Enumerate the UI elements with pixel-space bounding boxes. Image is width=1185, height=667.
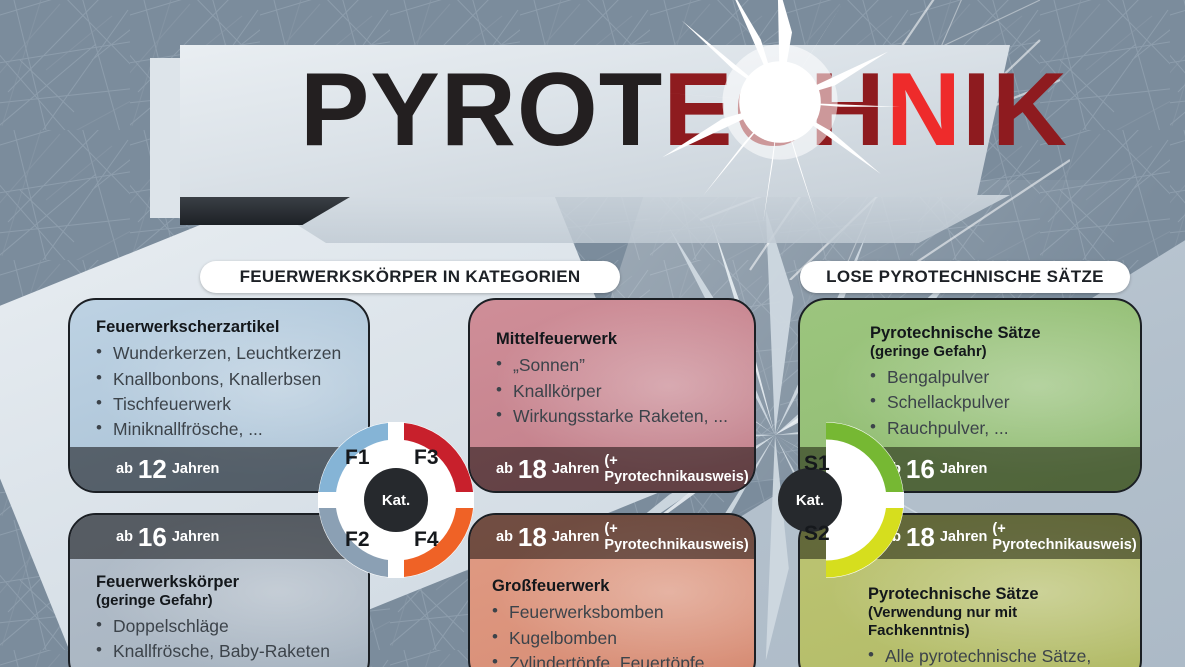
card-heading-text: Großfeuerwerk [492,577,609,595]
list-item: Miniknallfrösche, ... [96,417,348,442]
age-suffix: Jahren [940,461,988,477]
card-f3[interactable]: Mittelfeuerwerk „Sonnen” Knallkörper Wir… [468,298,756,493]
kat-wheel-hub-label: Kat. [382,492,410,509]
age-prefix: ab [116,529,133,545]
card-body: Großfeuerwerk Feuerwerksbomben Kugelbomb… [470,567,754,667]
list-item: Kugelbomben [492,626,734,651]
card-heading-text: Mittelfeuerwerk [496,330,617,348]
page-title: PYROTECHNIK [300,58,1068,162]
kat-label-f4: F4 [414,528,439,552]
card-heading: Pyrotechnische Sätze (Verwendung nur mit… [868,585,1120,640]
card-f4[interactable]: ab 18 Jahren (+ Pyrotechnikausweis) Groß… [468,513,756,667]
list-item: Wirkungsstarke Raketen, ... [496,404,734,429]
card-body: Mittelfeuerwerk „Sonnen” Knallkörper Wir… [470,312,754,437]
age-suffix: Jahren [552,529,600,545]
satz-label-s1: S1 [804,452,830,476]
card-item-list: Feuerwerksbomben Kugelbomben Zylindertöp… [492,600,734,667]
banner-tail [250,195,1010,243]
age-note: (+ Pyrotechnikausweis) [604,521,754,553]
age-prefix: ab [116,461,133,477]
age-note: (+ Pyrotechnikausweis) [604,453,754,485]
kat-wheel-hub: Kat. [364,468,428,532]
card-heading: Feuerwerkscherzartikel [96,318,348,337]
age-number: 18 [518,454,547,485]
age-suffix: Jahren [172,529,220,545]
kat-label-f1: F1 [345,446,370,470]
card-heading: Pyrotechnische Sätze (geringe Gefahr) [870,324,1120,361]
list-item: Rauchpulver, ... [870,416,1120,441]
list-item: Knallbonbons, Knallerbsen [96,367,348,392]
card-heading-text: Feuerwerkskörper [96,573,239,591]
title-part-bright: N [886,58,962,162]
list-item: Doppelschläge [96,614,348,639]
age-number: 18 [906,522,935,553]
card-subheading-text: (Verwendung nur mit Fachkenntnis) [868,604,1120,639]
title-part-dark: PYROT [300,58,663,162]
list-item: Schellackpulver [870,390,1120,415]
card-item-list: Doppelschläge Knallfrösche, Baby-Raketen… [96,614,348,667]
card-subheading-text: (geringe Gefahr) [96,592,348,610]
card-heading-text: Feuerwerkscherzartikel [96,318,279,336]
card-heading-text: Pyrotechnische Sätze [868,585,1039,603]
satz-label-s2: S2 [804,522,830,546]
list-item: Zylindertöpfe, Feuertöpfe [492,651,734,667]
card-item-list: Alle pyrotechnische Sätze, die nicht in … [868,644,1120,667]
card-heading: Mittelfeuerwerk [496,330,734,349]
list-item: Bengalpulver [870,365,1120,390]
section-header-label: LOSE PYROTECHNISCHE SÄTZE [826,267,1104,287]
kat-wheel[interactable]: Kat. F1 F3 F2 F4 [318,422,474,578]
card-heading-text: Pyrotechnische Sätze [870,324,1041,342]
list-item: Tischfeuerwerk [96,392,348,417]
list-item: Alle pyrotechnische Sätze, [868,644,1120,667]
card-item-list: Wunderkerzen, Leuchtkerzen Knallbonbons,… [96,341,348,442]
kat-label-f2: F2 [345,528,370,552]
section-header-label: FEUERWERKSKÖRPER IN KATEGORIEN [240,267,581,287]
card-item-list: Bengalpulver Schellackpulver Rauchpulver… [870,365,1120,441]
age-badge: ab 18 Jahren (+ Pyrotechnikausweis) [470,447,754,491]
list-item: Knallkörper [496,379,734,404]
card-heading: Feuerwerkskörper (geringe Gefahr) [96,573,348,610]
kat-label-f3: F3 [414,446,439,470]
list-item: Wunderkerzen, Leuchtkerzen [96,341,348,366]
age-suffix: Jahren [172,461,220,477]
age-number: 16 [906,454,935,485]
list-item: Feuerwerksbomben [492,600,734,625]
card-subheading-text: (geringe Gefahr) [870,343,1120,361]
age-number: 16 [138,522,167,553]
age-suffix: Jahren [940,529,988,545]
card-heading: Großfeuerwerk [492,577,734,596]
list-item: „Sonnen” [496,353,734,378]
card-item-list: „Sonnen” Knallkörper Wirkungsstarke Rake… [496,353,734,429]
age-number: 12 [138,454,167,485]
section-header-saetze: LOSE PYROTECHNISCHE SÄTZE [800,261,1130,293]
satz-wheel-hub-label: Kat. [796,492,824,509]
section-header-kategorien: FEUERWERKSKÖRPER IN KATEGORIEN [200,261,620,293]
age-note: (+ Pyrotechnikausweis) [992,521,1140,553]
age-number: 18 [518,522,547,553]
title-part-darkred: ECH [663,58,886,162]
title-part-tail: IK [962,58,1068,162]
age-prefix: ab [496,529,513,545]
satz-wheel[interactable]: Kat. S1 S2 [748,422,904,578]
age-badge: ab 18 Jahren (+ Pyrotechnikausweis) [470,515,754,559]
age-suffix: Jahren [552,461,600,477]
card-body: Pyrotechnische Sätze (Verwendung nur mit… [800,577,1140,667]
title-banner: PYROTECHNIK [0,0,1185,240]
list-item: Knallfrösche, Baby-Raketen [96,639,348,664]
age-prefix: ab [496,461,513,477]
